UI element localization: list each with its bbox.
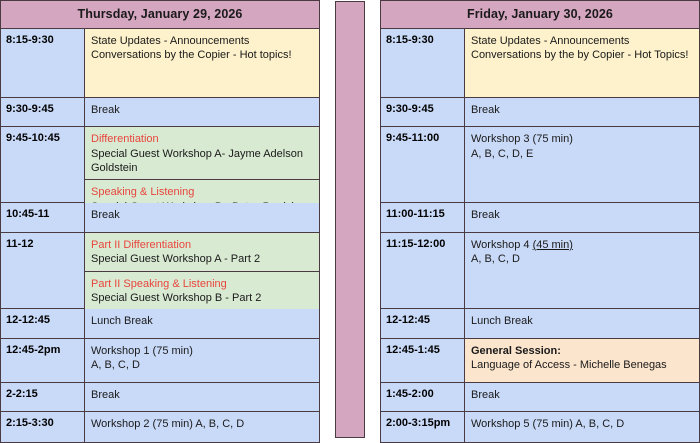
- event-block: Workshop 1 (75 min)A, B, C, D: [85, 339, 319, 382]
- event-title-highlight: Differentiation: [91, 132, 313, 146]
- event-detail: Workshop 1 (75 min): [91, 344, 313, 358]
- event-cell: Workshop 1 (75 min)A, B, C, D: [85, 339, 319, 382]
- event-cell: Workshop 2 (75 min) A, B, C, D: [85, 412, 319, 442]
- schedule-row: 12:45-2pmWorkshop 1 (75 min)A, B, C, D: [1, 339, 319, 383]
- event-block: General Session:Language of Access - Mic…: [465, 339, 699, 382]
- duration-underlined: (45 min): [533, 239, 573, 251]
- event-detail: Workshop 4 (45 min): [471, 238, 693, 252]
- event-cell: Break: [465, 203, 699, 231]
- event-detail: Special Guest Workshop A- Jayme Adelson …: [91, 147, 313, 176]
- event-block: State Updates - AnnouncementsConversatio…: [85, 29, 319, 97]
- event-cell: State Updates - AnnouncementsConversatio…: [465, 29, 699, 97]
- schedule-row: 12-12:45Lunch Break: [381, 309, 699, 338]
- event-detail: Conversations by the by Copier - Hot Top…: [471, 48, 693, 62]
- schedule-row: 10:45-11Break: [1, 203, 319, 232]
- event-detail: Conversations by the Copier - Hot topics…: [91, 48, 313, 62]
- schedule-row: 2:15-3:30Workshop 2 (75 min) A, B, C, D: [1, 412, 319, 442]
- schedule-row: 11-12Part II DifferentiationSpecial Gues…: [1, 233, 319, 309]
- schedule-row: 12-12:45Lunch Break: [1, 309, 319, 338]
- time-slot-label: 11:15-12:00: [381, 233, 465, 308]
- event-block: Break: [85, 203, 319, 231]
- time-slot-label: 10:45-11: [1, 203, 85, 231]
- event-block: Workshop 2 (75 min) A, B, C, D: [85, 412, 319, 442]
- center-divider: [320, 0, 380, 443]
- schedule-row: 9:45-11:00Workshop 3 (75 min)A, B, C, D,…: [381, 127, 699, 203]
- event-title-bold: General Session:: [471, 344, 693, 358]
- time-slot-label: 9:30-9:45: [381, 98, 465, 126]
- schedule-row: 2-2:15Break: [1, 383, 319, 412]
- event-cell: Lunch Break: [465, 309, 699, 337]
- time-slot-label: 12-12:45: [381, 309, 465, 337]
- event-block: Break: [85, 383, 319, 411]
- day-column-friday: Friday, January 30, 2026 8:15-9:30State …: [380, 0, 700, 443]
- event-block: Workshop 5 (75 min) A, B, C, D: [465, 412, 699, 442]
- schedule-row: 11:00-11:15Break: [381, 203, 699, 232]
- day-header-friday: Friday, January 30, 2026: [381, 1, 699, 29]
- event-cell: Break: [465, 383, 699, 411]
- event-cell: Part II DifferentiationSpecial Guest Wor…: [85, 233, 319, 308]
- time-slot-label: 11:00-11:15: [381, 203, 465, 231]
- event-detail: Special Guest Workshop A - Part 2: [91, 252, 313, 266]
- event-block: Lunch Break: [465, 309, 699, 337]
- time-slot-label: 8:15-9:30: [1, 29, 85, 97]
- schedule-rows-thursday: 8:15-9:30State Updates - AnnouncementsCo…: [1, 29, 319, 443]
- time-slot-label: 9:45-11:00: [381, 127, 465, 202]
- event-detail: Lunch Break: [91, 314, 313, 328]
- divider-bar: [335, 1, 365, 438]
- event-cell: Workshop 4 (45 min)A, B, C, D: [465, 233, 699, 308]
- time-slot-label: 12-12:45: [1, 309, 85, 337]
- event-title-highlight: Part II Speaking & Listening: [91, 277, 313, 291]
- event-detail: Break: [91, 388, 313, 402]
- event-detail: Break: [471, 208, 693, 222]
- event-detail: Workshop 3 (75 min): [471, 132, 693, 146]
- event-title-highlight: Speaking & Listening: [91, 185, 313, 199]
- day-column-thursday: Thursday, January 29, 2026 8:15-9:30Stat…: [0, 0, 320, 443]
- time-slot-label: 2:15-3:30: [1, 412, 85, 442]
- event-block: Break: [85, 98, 319, 126]
- schedule-row: 12:45-1:45General Session:Language of Ac…: [381, 339, 699, 383]
- time-slot-label: 12:45-1:45: [381, 339, 465, 382]
- schedule-row: 8:15-9:30State Updates - AnnouncementsCo…: [381, 29, 699, 98]
- day-header-thursday: Thursday, January 29, 2026: [1, 1, 319, 29]
- schedule-row: 9:30-9:45Break: [381, 98, 699, 127]
- event-block: DifferentiationSpecial Guest Workshop A-…: [85, 127, 319, 179]
- event-detail: Lunch Break: [471, 314, 693, 328]
- event-title-highlight: Part II Differentiation: [91, 238, 313, 252]
- event-block: Part II DifferentiationSpecial Guest Wor…: [85, 233, 319, 271]
- time-slot-label: 2:00-3:15pm: [381, 412, 465, 442]
- event-block: State Updates - AnnouncementsConversatio…: [465, 29, 699, 97]
- event-cell: Break: [85, 203, 319, 231]
- event-block: Workshop 3 (75 min)A, B, C, D, E: [465, 127, 699, 202]
- event-cell: General Session:Language of Access - Mic…: [465, 339, 699, 382]
- event-detail: Break: [91, 103, 313, 117]
- event-cell: Break: [85, 98, 319, 126]
- event-detail: A, B, C, D: [471, 252, 693, 266]
- event-cell: Break: [85, 383, 319, 411]
- schedule-container: Thursday, January 29, 2026 8:15-9:30Stat…: [0, 0, 700, 443]
- schedule-row: 8:15-9:30State Updates - AnnouncementsCo…: [1, 29, 319, 98]
- event-block: Break: [465, 98, 699, 126]
- schedule-row: 9:30-9:45Break: [1, 98, 319, 127]
- schedule-rows-friday: 8:15-9:30State Updates - AnnouncementsCo…: [381, 29, 699, 443]
- time-slot-label: 2-2:15: [1, 383, 85, 411]
- event-detail: Workshop 2 (75 min) A, B, C, D: [91, 417, 313, 431]
- event-detail: State Updates - Announcements: [91, 34, 313, 48]
- time-slot-label: 9:45-10:45: [1, 127, 85, 202]
- schedule-row: 1:45-2:00Break: [381, 383, 699, 412]
- event-cell: DifferentiationSpecial Guest Workshop A-…: [85, 127, 319, 202]
- schedule-row: 2:00-3:15pmWorkshop 5 (75 min) A, B, C, …: [381, 412, 699, 442]
- schedule-row: 9:45-10:45DifferentiationSpecial Guest W…: [1, 127, 319, 203]
- event-block: Workshop 4 (45 min)A, B, C, D: [465, 233, 699, 308]
- event-block: Lunch Break: [85, 309, 319, 337]
- time-slot-label: 1:45-2:00: [381, 383, 465, 411]
- event-cell: Lunch Break: [85, 309, 319, 337]
- event-cell: Break: [465, 98, 699, 126]
- event-cell: Workshop 3 (75 min)A, B, C, D, E: [465, 127, 699, 202]
- event-detail: Break: [471, 103, 693, 117]
- event-block: Part II Speaking & ListeningSpecial Gues…: [85, 271, 319, 310]
- event-detail: A, B, C, D, E: [471, 147, 693, 161]
- time-slot-label: 9:30-9:45: [1, 98, 85, 126]
- time-slot-label: 11-12: [1, 233, 85, 308]
- time-slot-label: 8:15-9:30: [381, 29, 465, 97]
- event-block: Break: [465, 203, 699, 231]
- event-detail: Language of Access - Michelle Benegas: [471, 358, 693, 372]
- event-detail: Break: [471, 388, 693, 402]
- event-detail: Workshop 5 (75 min) A, B, C, D: [471, 417, 693, 431]
- event-detail: State Updates - Announcements: [471, 34, 693, 48]
- schedule-row: 11:15-12:00Workshop 4 (45 min)A, B, C, D: [381, 233, 699, 309]
- event-detail: Break: [91, 208, 313, 222]
- event-cell: Workshop 5 (75 min) A, B, C, D: [465, 412, 699, 442]
- time-slot-label: 12:45-2pm: [1, 339, 85, 382]
- event-cell: State Updates - AnnouncementsConversatio…: [85, 29, 319, 97]
- event-block: Break: [465, 383, 699, 411]
- event-detail: A, B, C, D: [91, 358, 313, 372]
- event-detail: Special Guest Workshop B - Part 2: [91, 291, 313, 305]
